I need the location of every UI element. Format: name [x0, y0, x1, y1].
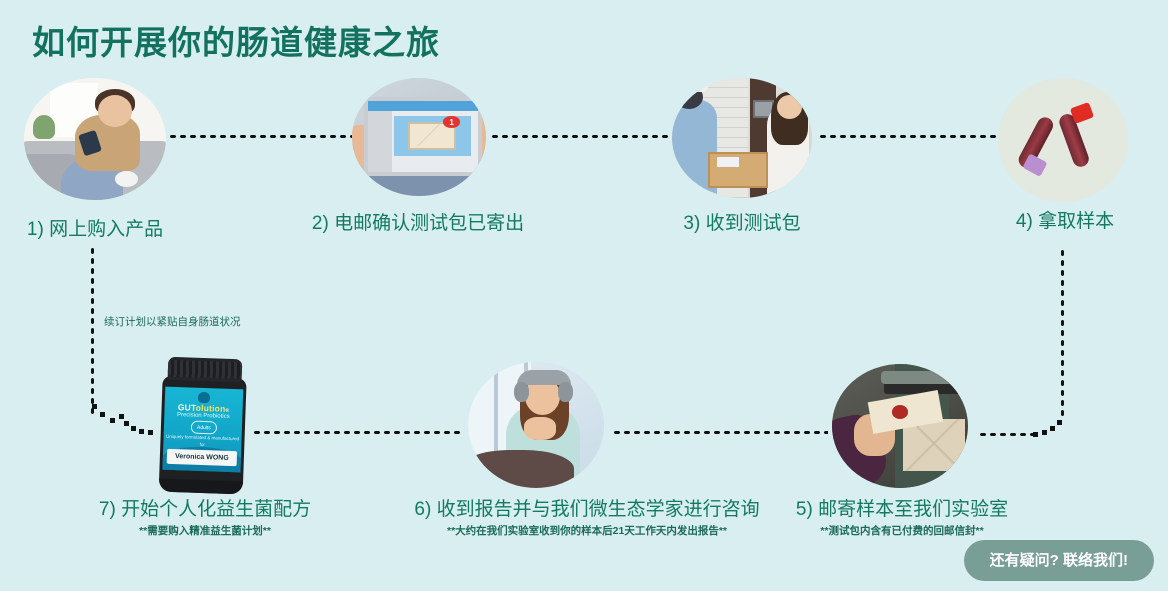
- connector-corner-to-step5: [978, 432, 1034, 437]
- step-5-label: 5) 邮寄样本至我们实验室: [790, 494, 1014, 521]
- step-6[interactable]: [468, 362, 604, 488]
- connector-step5-step6: [612, 430, 828, 435]
- step-6-label: 6) 收到报告并与我们微生态学家进行咨询: [396, 494, 778, 521]
- step-7-label: 7) 开始个人化益生菌配方: [70, 494, 340, 521]
- probiotic-bottle: GUTolution® Precision Probiotics Adults …: [153, 356, 254, 494]
- step-6-note: **大约在我们实验室收到你的样本后21天工作天内发出报告**: [396, 523, 778, 538]
- connector-loop-corner-dot: [131, 426, 136, 431]
- connector-step1-step2: [168, 134, 354, 139]
- contact-us-button[interactable]: 还有疑问? 联络我们!: [964, 540, 1154, 581]
- step-2[interactable]: 1: [352, 78, 486, 196]
- connector-loop-corner-dot: [119, 414, 124, 419]
- step-2-label: 2) 电邮确认测试包已寄出: [278, 208, 558, 235]
- email-badge-count: 1: [443, 116, 461, 127]
- step-1-image: [24, 78, 166, 200]
- bottle-fine-print: Uniquely formulated & manufactured for: [163, 434, 242, 450]
- connector-step2-step3: [490, 134, 668, 139]
- bottle-pill-label: Adults: [191, 421, 216, 435]
- connector-loop-corner-dot: [100, 412, 105, 417]
- step-3[interactable]: [672, 78, 812, 198]
- step-3-image: [672, 78, 812, 198]
- connector-loop-corner-dot: [110, 418, 115, 423]
- step-3-label: 3) 收到测试包: [652, 208, 832, 235]
- connector-corner-dot: [1057, 420, 1062, 425]
- step-1-label: 1) 网上购入产品: [0, 214, 190, 241]
- connector-loop-vertical: [90, 246, 95, 418]
- step-4-label: 4) 拿取样本: [985, 206, 1145, 233]
- connector-loop-corner-dot: [148, 430, 153, 435]
- page-title: 如何开展你的肠道健康之旅: [32, 16, 440, 64]
- connector-step3-step4: [818, 134, 996, 139]
- step-1[interactable]: [24, 78, 166, 200]
- step-7-note: **需要购入精准益生菌计划**: [70, 523, 340, 538]
- connector-step4-down: [1060, 248, 1065, 420]
- bottle-customer-name: Veronica WONG: [167, 449, 237, 466]
- step-4-image: [998, 78, 1128, 202]
- step-6-image: [468, 362, 604, 488]
- step-2-image: 1: [352, 78, 486, 196]
- connector-loop-corner-dot: [92, 404, 97, 409]
- connector-step6-step7: [252, 430, 464, 435]
- renewal-annotation: 续订计划以紧贴自身肠道状况: [104, 314, 241, 329]
- connector-loop-corner-dot: [124, 421, 129, 426]
- step-5-image: [832, 364, 968, 488]
- whale-logo-icon: [198, 392, 210, 403]
- step-4[interactable]: [998, 78, 1128, 202]
- step-5-note: **测试包内含有已付费的回邮信封**: [790, 523, 1014, 538]
- connector-corner-dot: [1042, 430, 1047, 435]
- step-5[interactable]: [832, 364, 968, 488]
- connector-corner-dot: [1050, 426, 1055, 431]
- connector-loop-corner-dot: [139, 429, 144, 434]
- infographic-canvas: 如何开展你的肠道健康之旅 续订计划以紧贴自身肠道状况: [0, 0, 1168, 591]
